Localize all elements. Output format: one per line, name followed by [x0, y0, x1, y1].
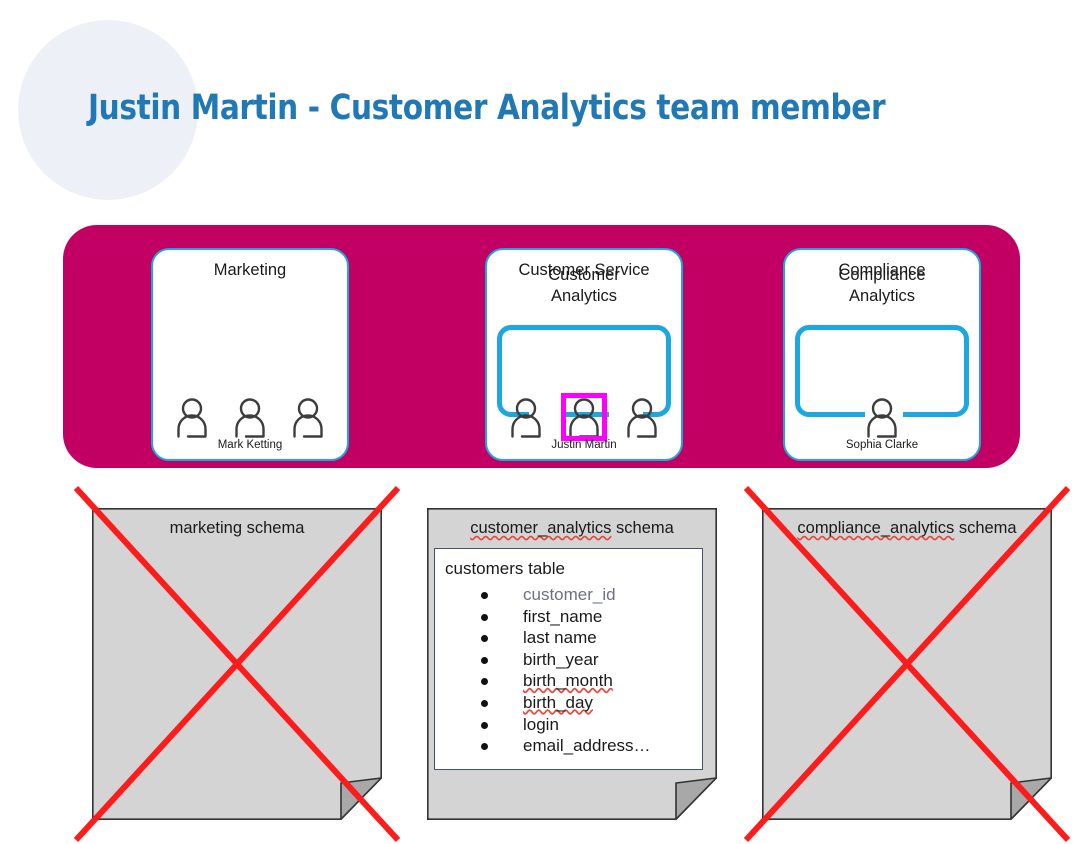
- schema-document-marketing[interactable]: marketing schema: [92, 508, 382, 820]
- column-list: customer_id first_name last name birth_y…: [457, 584, 651, 757]
- document-shape: [762, 508, 1052, 820]
- person-icon[interactable]: [174, 396, 210, 438]
- slide-canvas: Justin Martin - Customer Analytics team …: [0, 0, 1092, 844]
- table-name-label: customers table: [445, 559, 565, 579]
- department-card-marketing[interactable]: Marketing Mark Ketting: [151, 248, 349, 461]
- column-item: first_name: [481, 606, 651, 628]
- column-item: last name: [481, 627, 651, 649]
- column-item: login: [481, 714, 651, 736]
- department-card-customer-service[interactable]: Customer Service Customer Analytics: [485, 248, 683, 461]
- schema-title-rest: schema: [611, 519, 673, 537]
- person-icon[interactable]: [624, 396, 660, 438]
- column-item: email_address…: [481, 735, 651, 757]
- schema-document-customer-analytics[interactable]: customer_analytics schema customers tabl…: [427, 508, 717, 820]
- table-panel: customers table customer_id first_name l…: [434, 548, 703, 770]
- people-row: [487, 396, 681, 444]
- column-item: birth_month: [481, 670, 651, 692]
- schema-title: customer_analytics schema: [427, 519, 717, 538]
- column-item: birth_day: [481, 692, 651, 714]
- column-item: customer_id: [481, 584, 651, 606]
- schema-title-rest: schema: [954, 519, 1016, 537]
- page-title: Justin Martin - Customer Analytics team …: [88, 88, 885, 128]
- column-item: birth_year: [481, 649, 651, 671]
- schema-title: marketing schema: [92, 519, 382, 538]
- people-row: [153, 396, 347, 444]
- schema-title-flagged: compliance_analytics: [797, 519, 954, 537]
- schema-title-rest: marketing schema: [170, 519, 305, 537]
- department-title: Marketing: [153, 261, 347, 280]
- person-icon-highlighted-justin-martin[interactable]: [566, 396, 602, 438]
- person-icon[interactable]: [864, 396, 900, 438]
- analytics-subgroup-label: Customer Analytics: [487, 265, 681, 307]
- department-card-compliance[interactable]: Compliance Compliance Analytics Sophia C…: [783, 248, 981, 461]
- member-name-label: Sophia Clarke: [785, 439, 979, 451]
- document-shape: [92, 508, 382, 820]
- person-icon[interactable]: [232, 396, 268, 438]
- people-row: [785, 396, 979, 444]
- member-name-label: Mark Ketting: [153, 439, 347, 451]
- schema-title: compliance_analytics schema: [762, 519, 1052, 538]
- person-icon[interactable]: [508, 396, 544, 438]
- analytics-subgroup-label: Compliance Analytics: [785, 265, 979, 307]
- person-icon[interactable]: [290, 396, 326, 438]
- schema-document-compliance-analytics[interactable]: compliance_analytics schema: [762, 508, 1052, 820]
- schema-title-flagged: customer_analytics: [470, 519, 611, 537]
- member-name-label: Justin Martin: [487, 439, 681, 451]
